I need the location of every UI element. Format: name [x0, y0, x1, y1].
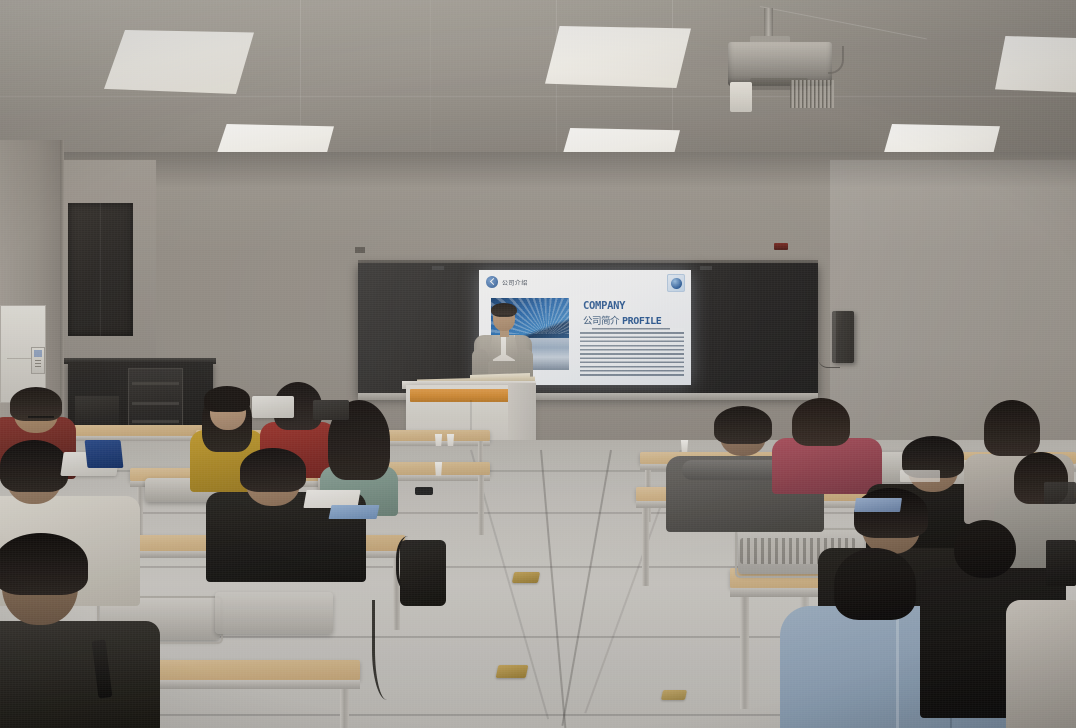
slide-title-cn: 公司简介 [583, 313, 619, 327]
floor-power-outlet[interactable] [661, 690, 687, 700]
notebook-cover[interactable] [854, 498, 902, 512]
projector-lens-icon [730, 82, 752, 112]
slide-title-en2: PROFILE [622, 316, 661, 327]
eyeglasses-icon [495, 315, 513, 319]
student-hair-top [204, 386, 250, 412]
student-torso [1006, 600, 1076, 728]
eyeglasses-icon [28, 416, 54, 419]
wall-speaker-right [832, 311, 854, 363]
student-torso [772, 438, 882, 494]
slide-title-en: COMPANY [583, 300, 625, 312]
slide-body-text [580, 328, 684, 378]
ceiling-light-panel [995, 36, 1076, 94]
slide-breadcrumb: 公司介绍 [486, 276, 528, 288]
paper[interactable] [900, 470, 940, 482]
ir-receiver-icon [774, 243, 788, 250]
student-torso [0, 621, 160, 728]
wall-notice-sign [31, 347, 45, 374]
blackboard-clip [700, 266, 712, 270]
laptop-screen[interactable] [85, 440, 124, 468]
company-logo-icon [667, 274, 685, 292]
student-head [834, 548, 916, 620]
ceiling-light-panel [545, 26, 691, 88]
whiteboard-marks [7, 358, 31, 359]
student-hair [0, 440, 68, 492]
smartphone[interactable] [415, 487, 433, 495]
slide-text-indent [580, 328, 592, 330]
floor-power-outlet[interactable] [512, 572, 540, 583]
ceiling-seam [0, 96, 1076, 97]
projector-vent-icon [790, 80, 834, 108]
student-head [954, 520, 1016, 578]
rack-shelf [132, 382, 179, 385]
projector-cable [828, 46, 844, 74]
rack-shelf [132, 420, 179, 423]
rack-monitor [75, 396, 119, 428]
blackboard-clip [432, 266, 444, 270]
tablet[interactable] [1046, 540, 1076, 586]
slide-tab-label: 公司介绍 [502, 278, 528, 287]
rack-shelf [132, 402, 179, 405]
student-hair [240, 448, 306, 492]
student-hair [854, 488, 928, 538]
notebook-cover[interactable] [329, 505, 380, 519]
chevron-left-icon [486, 276, 498, 288]
laptop-screen[interactable] [313, 400, 349, 420]
jacket-seam [896, 612, 899, 728]
desk-leg [340, 689, 349, 728]
student-hair [0, 533, 88, 595]
projector [722, 8, 852, 92]
lectern-accent-panel [410, 389, 518, 402]
laptop[interactable] [252, 396, 294, 418]
desk-leg [478, 475, 484, 535]
cable [372, 600, 402, 700]
student-hair [714, 406, 772, 444]
backpack-strap [396, 536, 426, 592]
slide-title-row: 公司简介 PROFILE [583, 313, 661, 327]
desk-leg [740, 597, 749, 709]
classroom-scene: 公司介绍 COMPANY 公司简介 PROFILE [0, 0, 1076, 728]
chair[interactable] [215, 592, 333, 634]
projector-body [728, 42, 832, 86]
student-hair [792, 398, 850, 446]
desk-leg [642, 508, 649, 586]
laptop-screen[interactable] [1044, 482, 1076, 504]
ceiling-light-panel [104, 30, 254, 94]
wall-highlight [830, 160, 1076, 460]
recessed-dark-panel [68, 203, 133, 336]
wall-speaker-left [355, 247, 365, 253]
student-hair [984, 400, 1040, 456]
floor-power-outlet[interactable] [496, 665, 529, 678]
